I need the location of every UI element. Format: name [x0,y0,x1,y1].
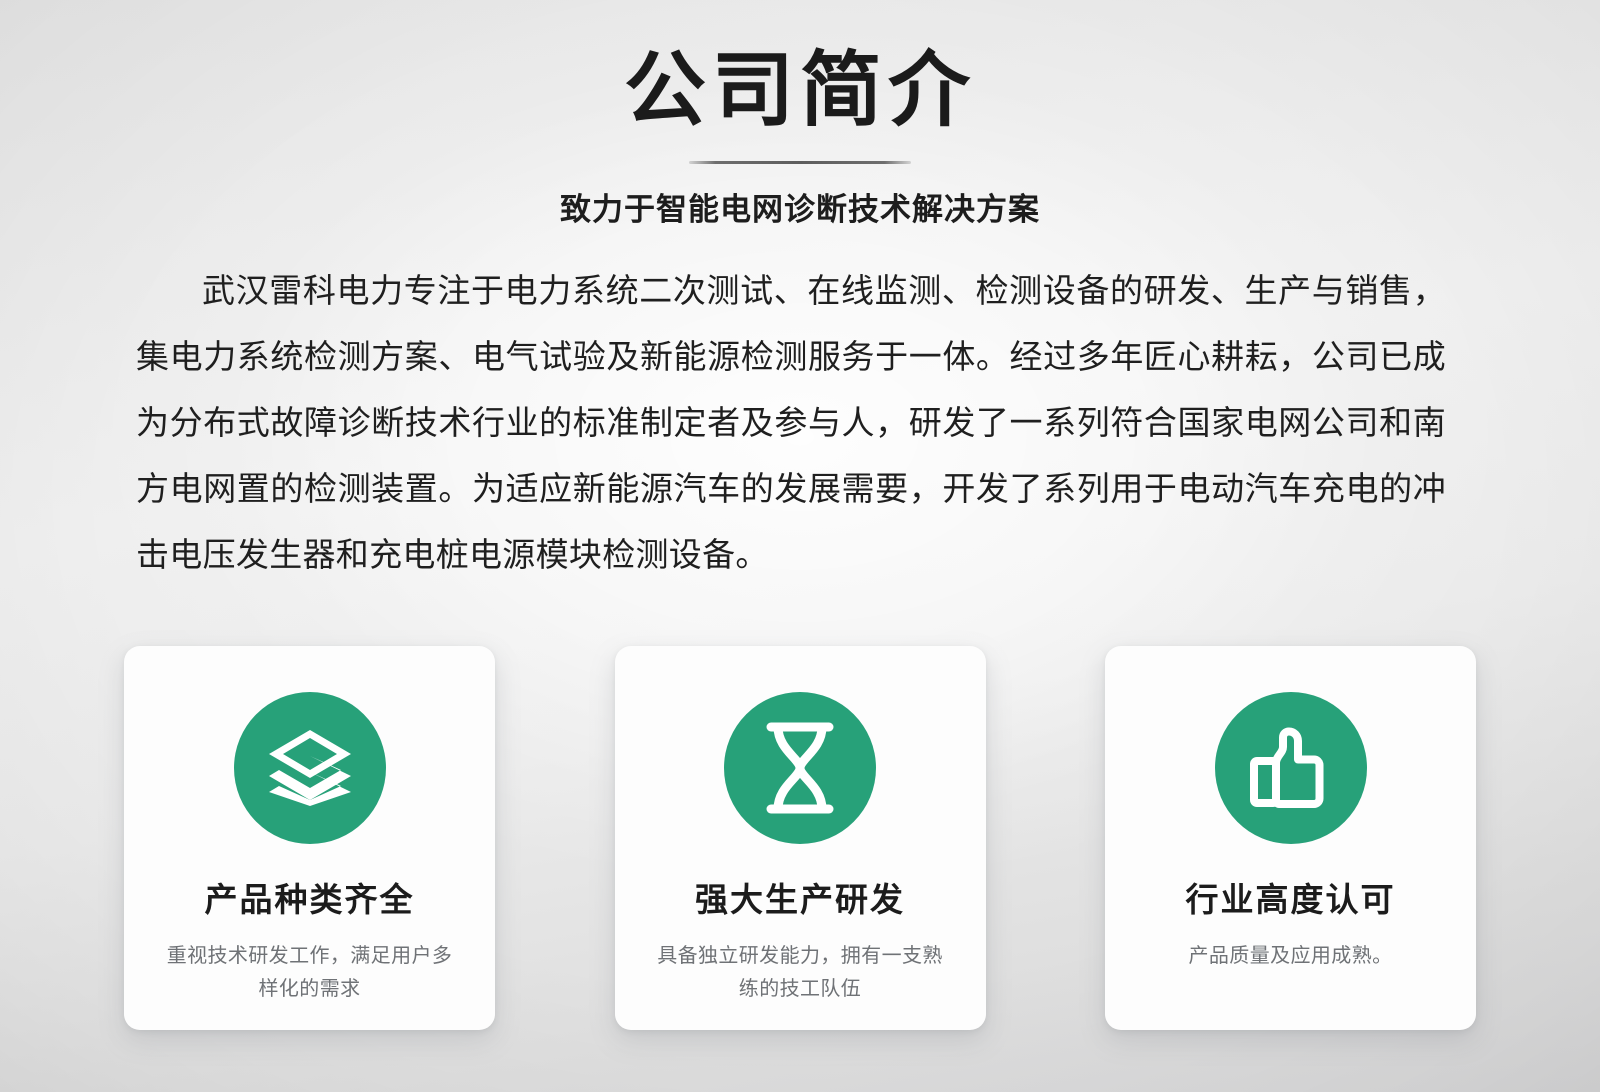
company-intro-paragraph: 武汉雷科电力专注于电力系统二次测试、在线监测、检测设备的研发、生产与销售，集电力… [136,258,1446,588]
hourglass-icon [724,692,876,844]
feature-card[interactable]: 强大生产研发 具备独立研发能力，拥有一支熟练的技工队伍 [615,646,986,1030]
feature-card[interactable]: 产品种类齐全 重视技术研发工作，满足用户多样化的需求 [124,646,495,1030]
page-subtitle: 致力于智能电网诊断技术解决方案 [0,184,1600,229]
feature-card-description: 产品质量及应用成熟。 [1141,940,1441,973]
company-profile-page: 公司简介 致力于智能电网诊断技术解决方案 武汉雷科电力专注于电力系统二次测试、在… [0,0,1600,1092]
feature-card[interactable]: 行业高度认可 产品质量及应用成熟。 [1105,646,1476,1030]
feature-card-title: 产品种类齐全 [205,880,415,920]
layers-icon [234,692,386,844]
feature-card-description: 重视技术研发工作，满足用户多样化的需求 [160,940,460,1006]
thumbs-up-icon [1215,692,1367,844]
feature-card-title: 强大生产研发 [695,880,905,920]
page-title: 公司简介 [0,44,1600,138]
title-divider [689,161,911,164]
feature-card-list: 产品种类齐全 重视技术研发工作，满足用户多样化的需求 强大生产研发 具备独立研发… [124,646,1476,1030]
feature-card-title: 行业高度认可 [1186,880,1396,920]
feature-card-description: 具备独立研发能力，拥有一支熟练的技工队伍 [650,940,950,1006]
